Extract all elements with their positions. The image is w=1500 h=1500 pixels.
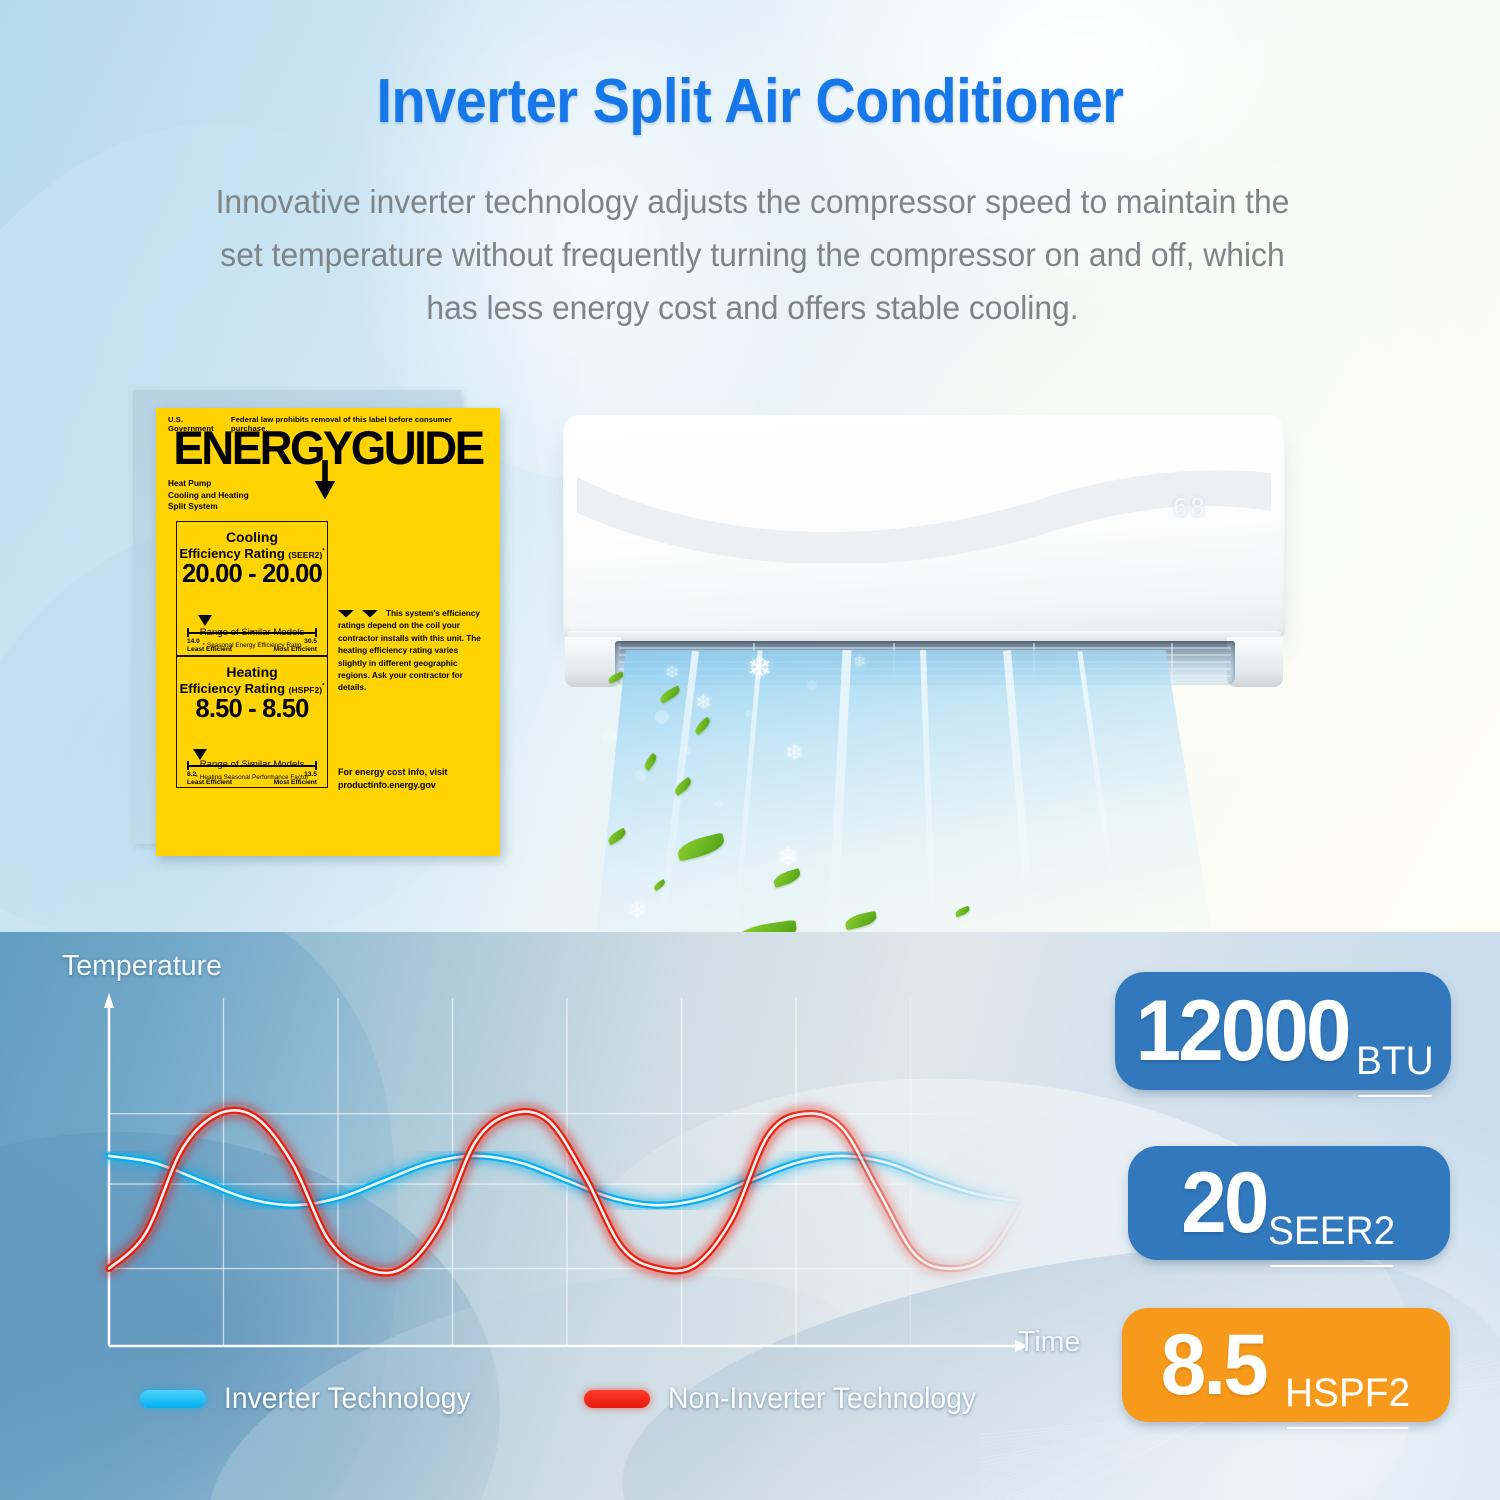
badge-hspf2: 8.5 HSPF2 <box>1122 1308 1450 1422</box>
heating-asterisk: * <box>322 684 324 690</box>
legend-swatch-inverter <box>140 1390 206 1408</box>
product-infographic: Inverter Split Air Conditioner Innovativ… <box>0 0 1500 1500</box>
cooling-footnote: * Seasonal Energy Efficiency Ratio <box>177 642 327 649</box>
energyguide-cost-url: productinfo.energy.gov <box>338 779 488 792</box>
air-conditioner-unit: 68 <box>563 415 1285 685</box>
ac-temperature-display: 68 <box>1173 493 1207 522</box>
badge-btu-number: 12000 <box>1136 988 1349 1074</box>
heating-range-text: Range of Similar Models <box>177 759 327 770</box>
cooling-asterisk: * <box>322 549 324 555</box>
legend-label-inverter: Inverter Technology <box>224 1382 471 1416</box>
down-arrow-icon <box>311 460 339 500</box>
chart-x-axis-label: Time <box>1018 1326 1080 1359</box>
badge-btu: 12000 BTU <box>1115 972 1451 1090</box>
chart-legend: Inverter Technology Non-Inverter Technol… <box>140 1382 1040 1426</box>
energyguide-product-type: Heat PumpCooling and HeatingSplit System <box>168 478 249 513</box>
heating-footnote: * Heating Seasonal Performance Factor <box>177 774 327 781</box>
heating-value: 8.50 - 8.50 <box>177 695 327 724</box>
legend-swatch-non-inverter <box>584 1390 650 1408</box>
cooling-heading: Cooling <box>177 529 327 545</box>
badge-hspf2-unit: HSPF2 <box>1285 1371 1410 1422</box>
energyguide-note-text: This system's efficiency ratings depend … <box>338 609 481 692</box>
energyguide-cooling-box: Cooling Efficiency Rating (SEER2)* 20.00… <box>176 521 328 656</box>
inverter-comparison-chart <box>95 990 1025 1360</box>
badge-seer2-number: 20 <box>1181 1160 1266 1246</box>
cooling-scale-marker <box>198 615 212 626</box>
ac-air-vent <box>615 641 1235 685</box>
chart-y-axis-label: Temperature <box>62 950 222 983</box>
cooling-metric: (SEER2) <box>288 550 322 560</box>
ac-left-endcap <box>565 637 621 687</box>
badge-hspf2-number: 8.5 <box>1161 1322 1266 1408</box>
energyguide-cost-info: For energy cost info, visit productinfo.… <box>338 766 488 792</box>
page-title: Inverter Split Air Conditioner <box>75 66 1425 137</box>
energyguide-label: U.S. Government Federal law prohibits re… <box>156 408 500 856</box>
cooling-range-text: Range of Similar Models <box>177 627 327 638</box>
energyguide-contractor-note: This system's efficiency ratings depend … <box>338 608 486 695</box>
cooling-subheading-text: Efficiency Rating <box>179 546 284 561</box>
legend-label-non-inverter: Non-Inverter Technology <box>668 1382 976 1416</box>
page-subtitle: Innovative inverter technology adjusts t… <box>204 176 1301 335</box>
legend-item-non-inverter: Non-Inverter Technology <box>584 1382 989 1416</box>
heating-subheading: Efficiency Rating (HSPF2)* <box>177 681 327 696</box>
cooling-value: 20.00 - 20.00 <box>177 560 327 589</box>
energyguide-cost-line1: For energy cost info, visit <box>338 766 488 779</box>
double-marker-icon <box>338 609 382 618</box>
badge-seer2: 20 SEER2 <box>1128 1146 1450 1260</box>
cooling-subheading: Efficiency Rating (SEER2)* <box>177 546 327 561</box>
ac-decorative-swoosh <box>577 467 1271 563</box>
ac-front-panel: 68 <box>563 415 1285 637</box>
heating-subheading-text: Efficiency Rating <box>180 681 285 696</box>
legend-item-inverter: Inverter Technology <box>140 1382 481 1416</box>
heating-metric: (HSPF2) <box>289 685 322 695</box>
heating-heading: Heating <box>177 664 327 680</box>
badge-btu-unit: BTU <box>1356 1039 1434 1090</box>
energyguide-heating-box: Heating Efficiency Rating (HSPF2)* 8.50 … <box>176 656 328 788</box>
ac-right-endcap <box>1227 637 1283 687</box>
badge-seer2-unit: SEER2 <box>1268 1209 1395 1260</box>
